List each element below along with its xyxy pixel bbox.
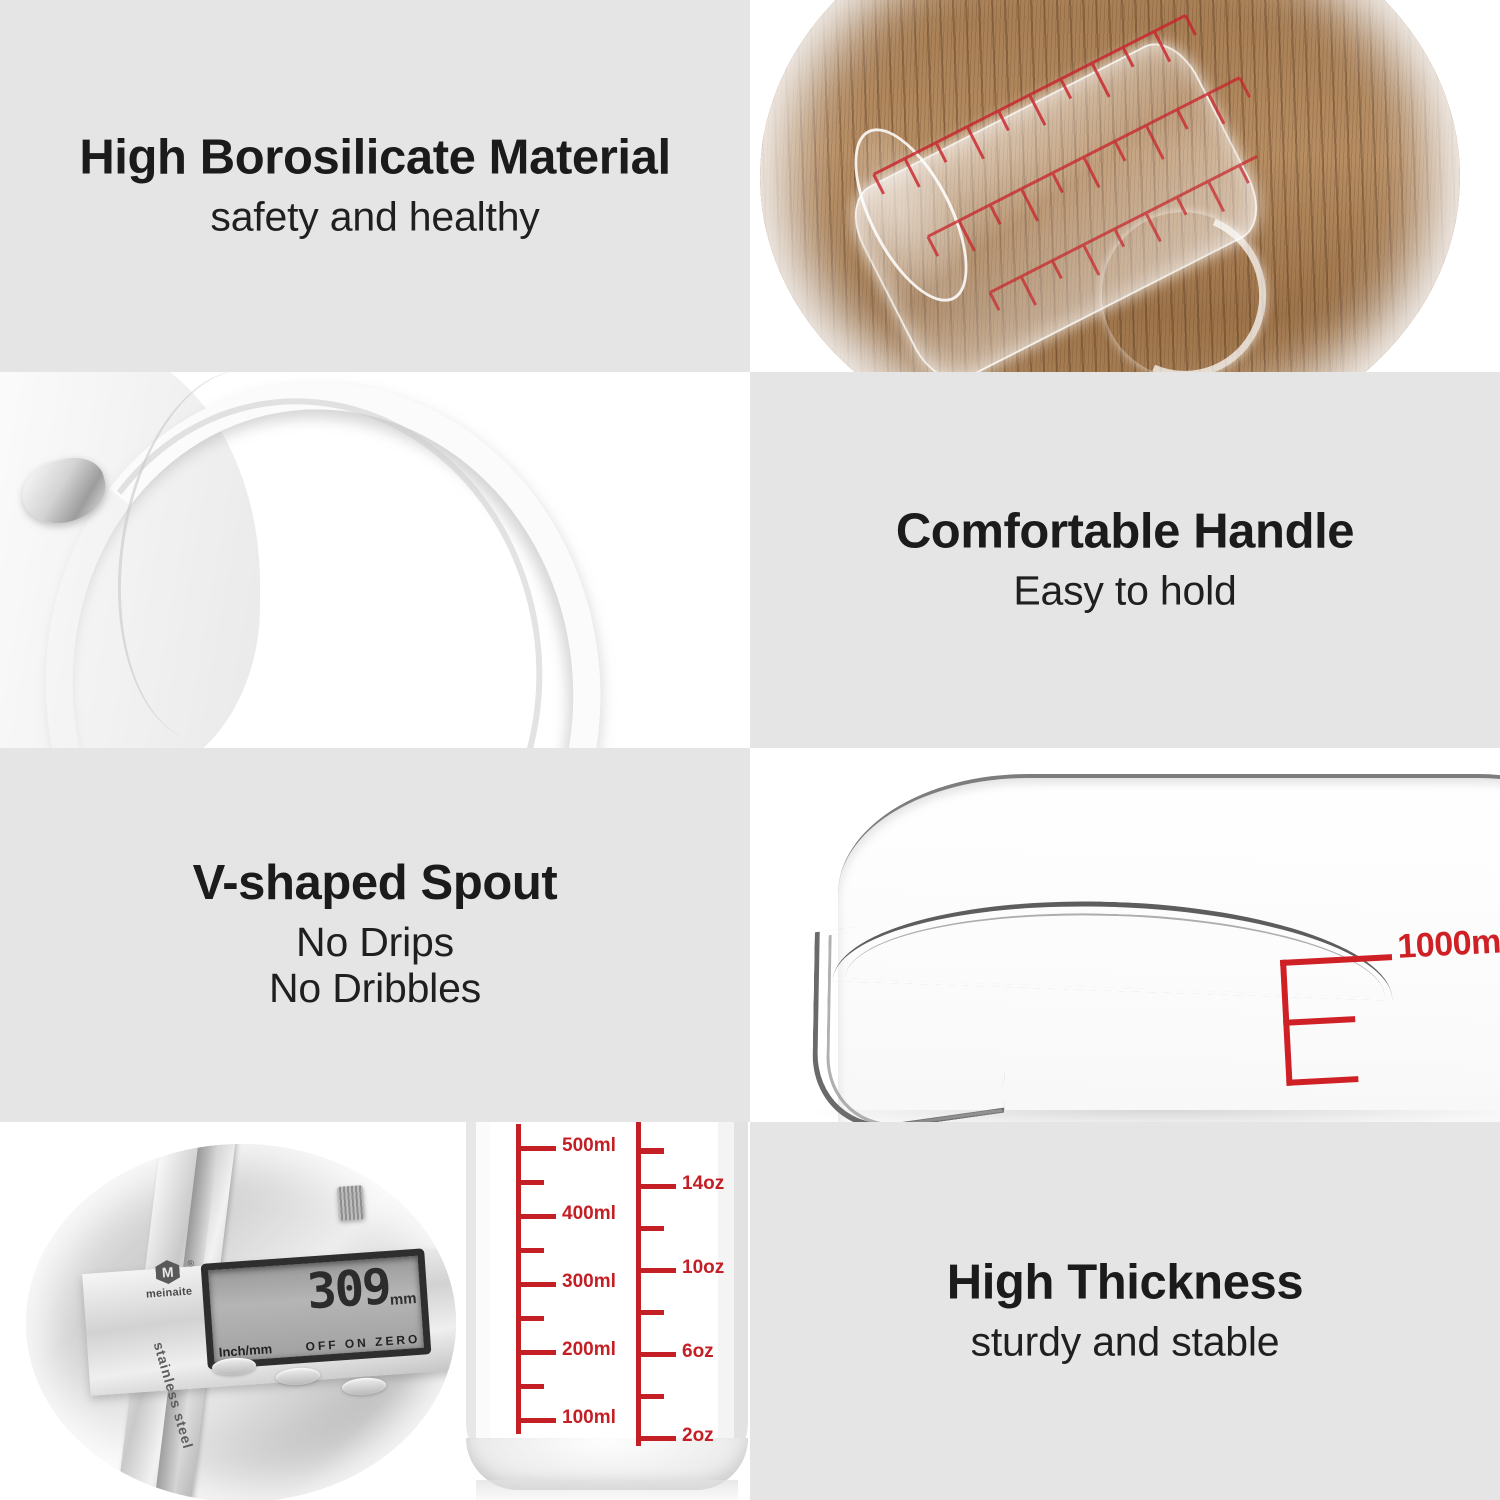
graduation-label: 1000ml	[1396, 922, 1500, 967]
v-spout-inner-outline	[825, 910, 1006, 1122]
scale-tick-major	[516, 1214, 556, 1219]
text-block: V-shaped Spout No Drips No Dribbles	[0, 858, 750, 1012]
scale-tick-major	[636, 1268, 676, 1273]
scale-label: 300ml	[562, 1271, 616, 1293]
panel-high-borosilicate: High Borosilicate Material safety and he…	[0, 0, 750, 372]
caliper-thumb-screw	[337, 1185, 365, 1221]
scale-tick-minor	[636, 1310, 664, 1315]
panel-thickness-photo: ® meinaite stainless steel 309 mm Inch/m…	[0, 1122, 750, 1500]
beaker-reflection	[476, 1480, 738, 1500]
panel-high-thickness: High Thickness sturdy and stable	[750, 1122, 1500, 1500]
spout-closeup-image: 1000ml	[750, 748, 1500, 1122]
panel-headline: High Thickness	[776, 1257, 1474, 1308]
panel-subline: No Drips	[26, 919, 724, 965]
scale-label: 2oz	[682, 1425, 714, 1447]
scale-label: 100ml	[562, 1407, 616, 1429]
scale-tick-minor	[636, 1394, 664, 1399]
scale-label: 400ml	[562, 1203, 616, 1225]
scale-tick-minor	[516, 1180, 544, 1185]
cup-shadow	[810, 1110, 1500, 1122]
scale-tick-major	[516, 1146, 556, 1151]
caliper-lcd-display: 309 mm Inch/mm OFF ON ZERO	[201, 1248, 432, 1369]
registered-mark-icon: ®	[187, 1258, 194, 1268]
panel-subline: sturdy and stable	[776, 1318, 1474, 1364]
caliper-button-labels: OFF ON ZERO	[305, 1332, 421, 1354]
scale-label: 16oz	[682, 1122, 724, 1125]
scale-tick-minor	[636, 1148, 664, 1153]
caliper-reading-value: 309	[306, 1262, 392, 1317]
scale-tick-major	[516, 1282, 556, 1287]
caliper-reading-unit: mm	[389, 1290, 417, 1309]
panel-headline: Comfortable Handle	[776, 506, 1474, 557]
scale-tick-minor	[516, 1316, 544, 1321]
panel-subline: Easy to hold	[776, 567, 1474, 613]
scale-tick-major	[636, 1436, 676, 1441]
panel-subline-2: No Dribbles	[26, 965, 724, 1011]
caliper-mode-label: Inch/mm	[218, 1341, 272, 1360]
scale-tick-minor	[516, 1384, 544, 1389]
scale-label: 14oz	[682, 1173, 724, 1195]
handle-closeup-image	[0, 372, 750, 748]
panel-spout-photo: 1000ml	[750, 748, 1500, 1122]
panel-handle-photo	[0, 372, 750, 748]
scale-tick-major	[636, 1184, 676, 1189]
scale-tick-minor	[636, 1226, 664, 1231]
panel-headline: High Borosilicate Material	[26, 132, 724, 183]
scale-tick-major	[636, 1352, 676, 1357]
caliper-photo-vignette: ® meinaite stainless steel 309 mm Inch/m…	[26, 1144, 456, 1500]
panel-cup-on-wood-photo	[750, 0, 1500, 372]
thickness-measurement-image: ® meinaite stainless steel 309 mm Inch/m…	[0, 1122, 750, 1500]
caliper-brand-name: meinaite	[134, 1285, 205, 1302]
cup-on-wood-image	[750, 0, 1500, 372]
panel-subline: safety and healthy	[26, 193, 724, 239]
scale-label: 10oz	[682, 1257, 724, 1279]
scale-label: 200ml	[562, 1339, 616, 1361]
scale-label: 500ml	[562, 1135, 616, 1157]
scale-label: 6oz	[682, 1341, 714, 1363]
product-feature-infographic: High Borosilicate Material safety and he…	[0, 0, 1500, 1500]
caliper-brand-badge: ® meinaite	[132, 1258, 206, 1325]
graduated-beaker: 500ml400ml300ml200ml100ml 16oz14oz10oz6o…	[458, 1122, 750, 1500]
text-block: High Thickness sturdy and stable	[750, 1257, 1500, 1364]
scale-tick-major	[516, 1350, 556, 1355]
panel-comfortable-handle: Comfortable Handle Easy to hold	[750, 372, 1500, 748]
panel-v-shaped-spout: V-shaped Spout No Drips No Dribbles	[0, 748, 750, 1122]
caliper-zero-button[interactable]	[341, 1376, 386, 1396]
panel-headline: V-shaped Spout	[26, 858, 724, 909]
scale-tick-major	[516, 1418, 556, 1423]
scale-tick-minor	[516, 1248, 544, 1253]
brand-hexagon-icon	[155, 1259, 181, 1285]
text-block: High Borosilicate Material safety and he…	[0, 132, 750, 239]
text-block: Comfortable Handle Easy to hold	[750, 506, 1500, 613]
